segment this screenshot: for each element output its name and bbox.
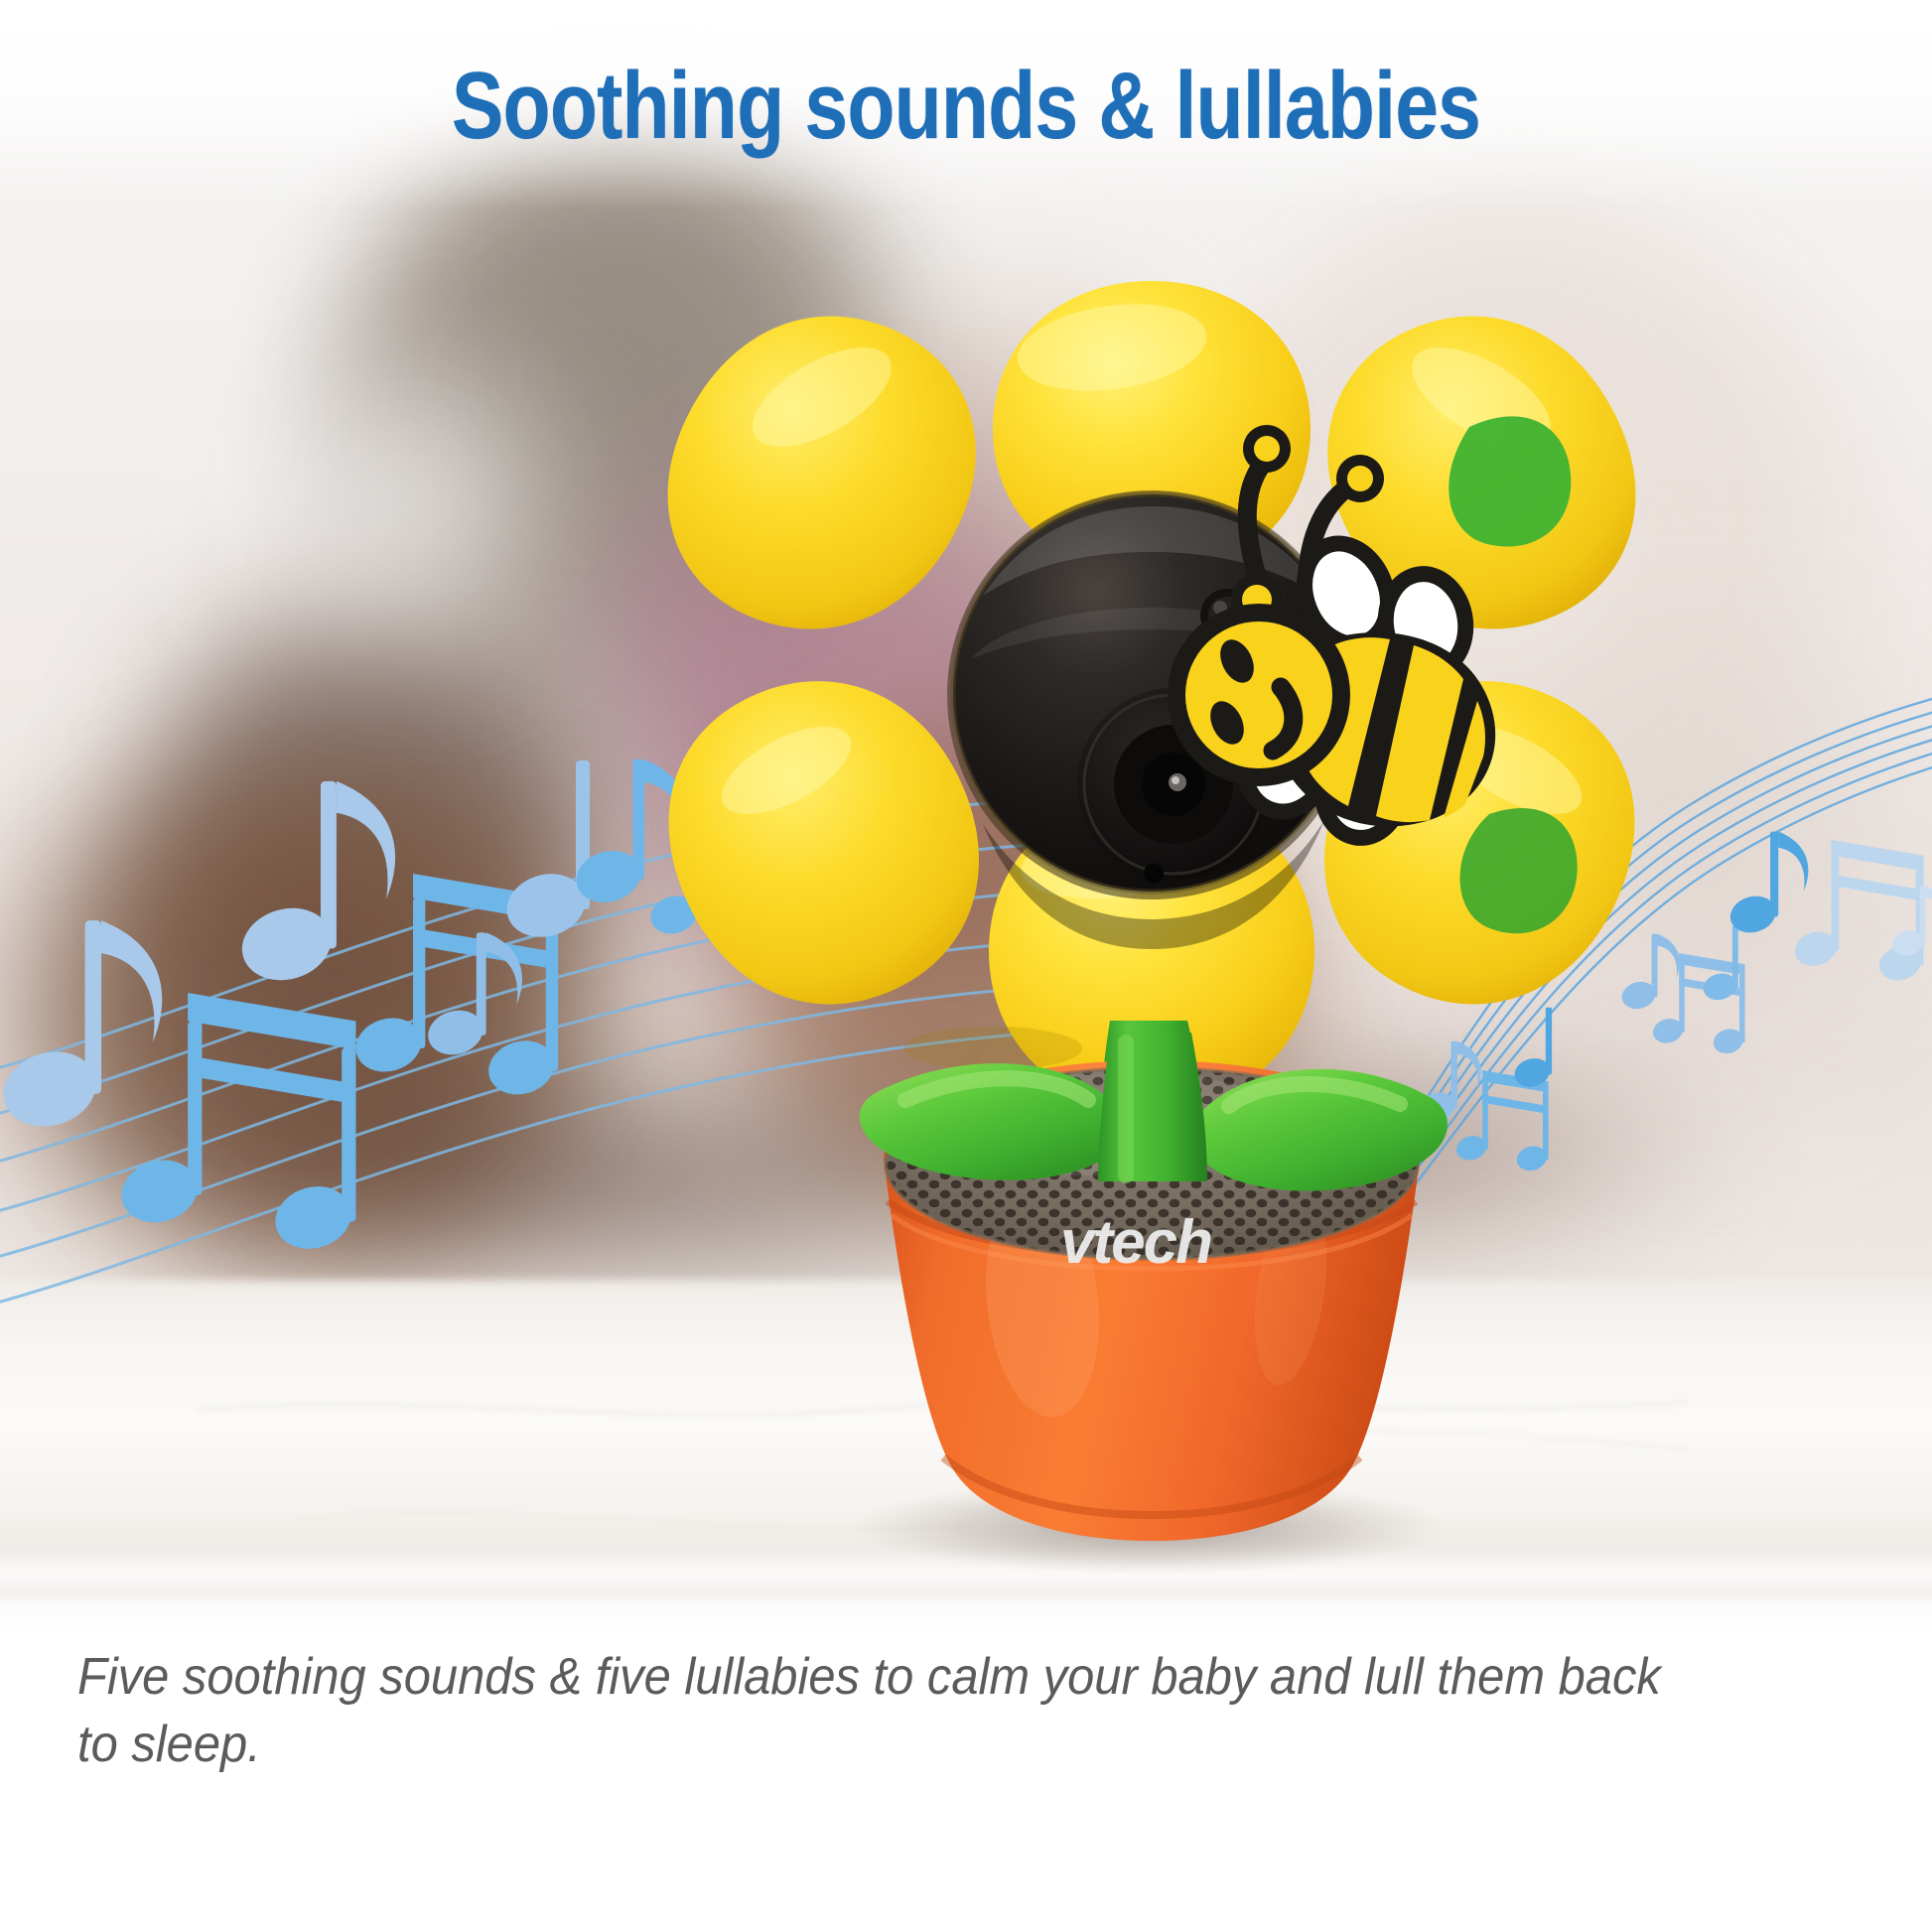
leaf-behind-flower [1449,416,1571,546]
leaf-behind-flower [1460,808,1578,933]
caption-text: Five soothing sounds & five lullabies to… [77,1644,1664,1778]
lens-glint [1172,776,1179,784]
microphone-hole [1144,864,1164,884]
stem-collar [1098,1033,1207,1181]
bee-head [1185,621,1332,768]
bee-antenna-tip-inner [1347,466,1373,491]
product-photo: vtech [0,0,1932,1932]
bee-antenna-tip-inner [1254,436,1280,462]
vtech-logo: vtech [1060,1208,1211,1277]
product-feature-image: Soothing sounds & lullabies [0,0,1932,1932]
